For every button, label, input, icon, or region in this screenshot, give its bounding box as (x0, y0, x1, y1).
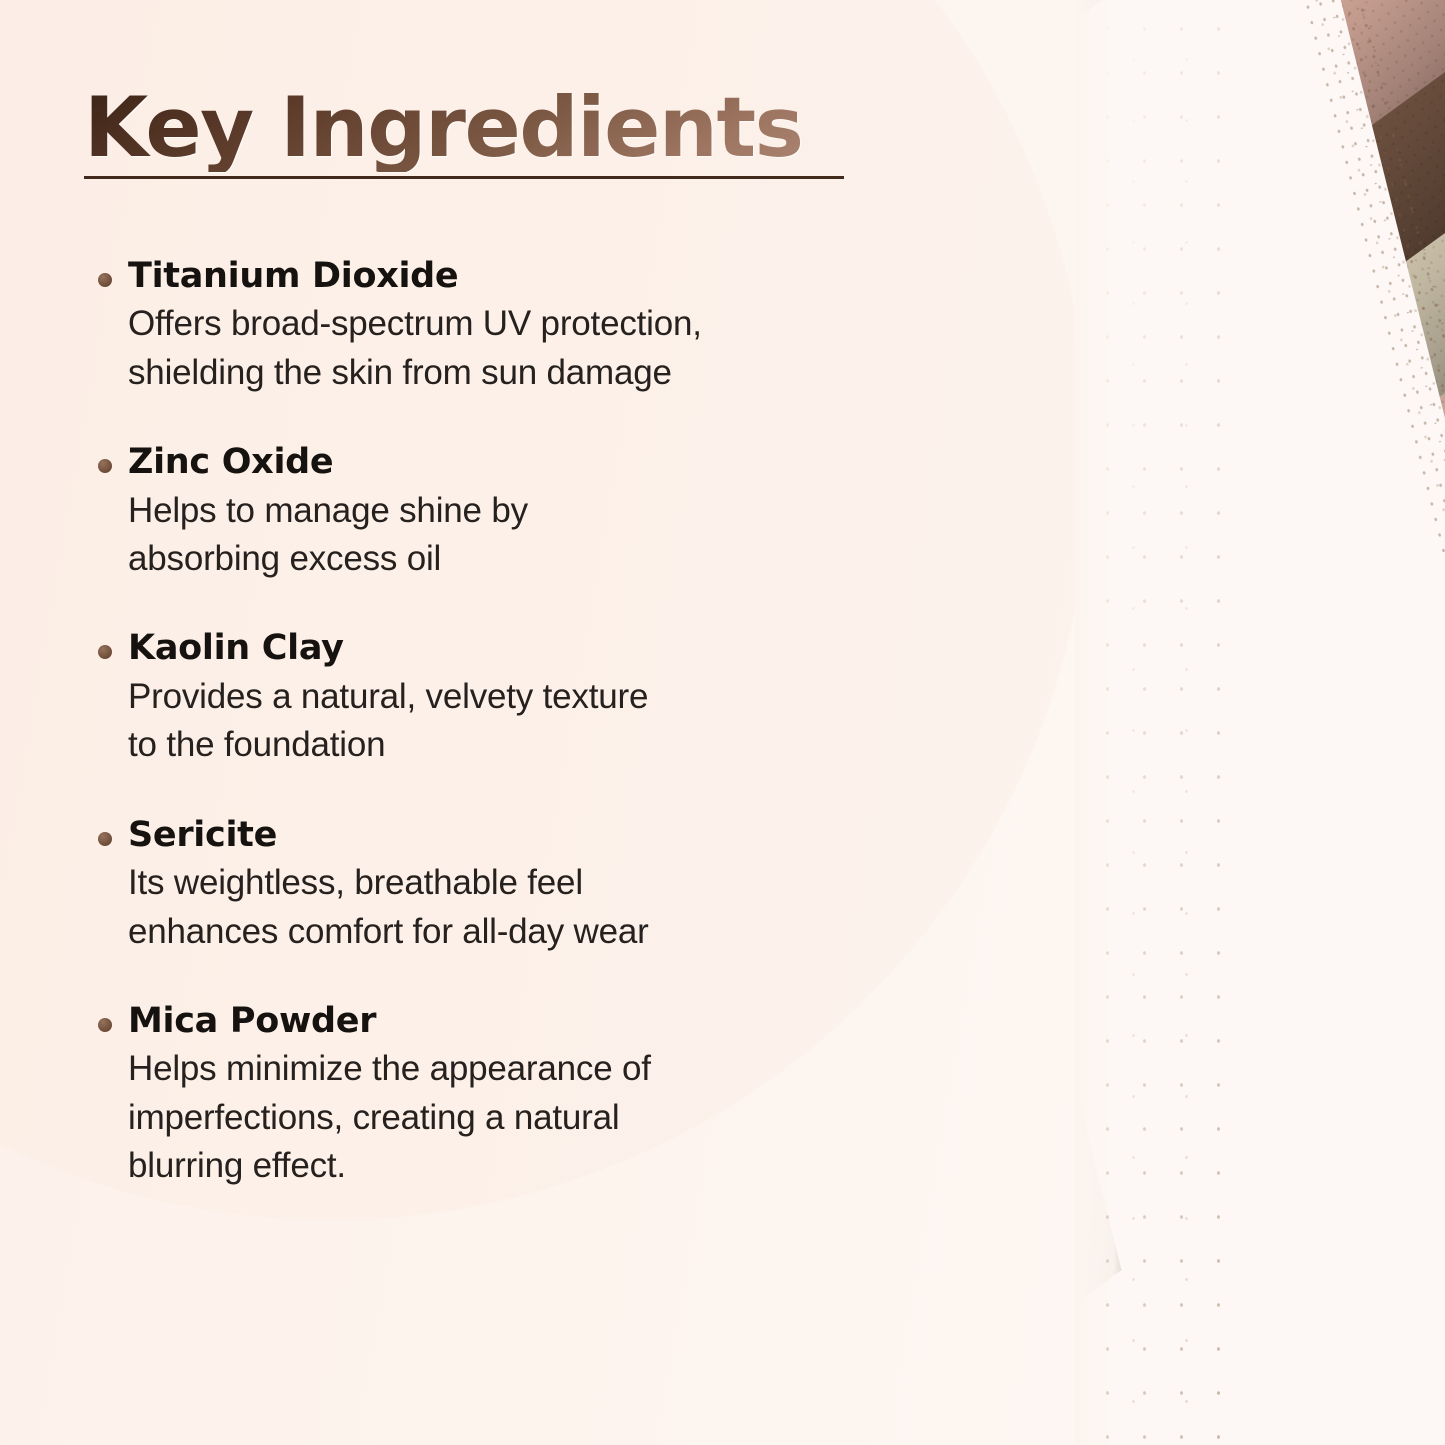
content-column: Key Ingredients Titanium Dioxide Offers … (84, 88, 944, 1190)
title-underline-rule (84, 176, 844, 179)
key-ingredients-infographic: Key Ingredients Titanium Dioxide Offers … (0, 0, 1445, 1445)
bullet-dot-icon (98, 1018, 112, 1032)
ingredient-description: Helps to manage shine by absorbing exces… (128, 487, 944, 584)
ingredient-name: Kaolin Clay (128, 627, 944, 670)
ingredient-description: Provides a natural, velvety texture to t… (128, 673, 944, 770)
ingredient-description: Helps minimize the appearance of imperfe… (128, 1045, 944, 1190)
page-title: Key Ingredients (84, 88, 849, 172)
ingredient-name: Mica Powder (128, 1000, 944, 1043)
powder-dust-specks (1211, 0, 1445, 1445)
list-item: Mica Powder Helps minimize the appearanc… (84, 1000, 944, 1191)
bullet-dot-icon (98, 645, 112, 659)
list-item: Titanium Dioxide Offers broad-spectrum U… (84, 255, 944, 397)
bullet-dot-icon (98, 459, 112, 473)
ingredient-name: Zinc Oxide (128, 441, 944, 484)
ingredients-list: Titanium Dioxide Offers broad-spectrum U… (84, 255, 944, 1191)
powder-swatch-image (1075, 0, 1445, 1445)
bullet-dot-icon (98, 273, 112, 287)
page-title-block: Key Ingredients (84, 88, 849, 179)
ingredient-description: Offers broad-spectrum UV protection, shi… (128, 300, 944, 397)
scattered-powder-specks (1085, 0, 1235, 1445)
list-item: Sericite Its weightless, breathable feel… (84, 814, 944, 956)
list-item: Kaolin Clay Provides a natural, velvety … (84, 627, 944, 769)
ingredient-description: Its weightless, breathable feel enhances… (128, 859, 944, 956)
ingredient-name: Sericite (128, 814, 944, 857)
bullet-dot-icon (98, 832, 112, 846)
ingredient-name: Titanium Dioxide (128, 255, 944, 298)
list-item: Zinc Oxide Helps to manage shine by abso… (84, 441, 944, 583)
